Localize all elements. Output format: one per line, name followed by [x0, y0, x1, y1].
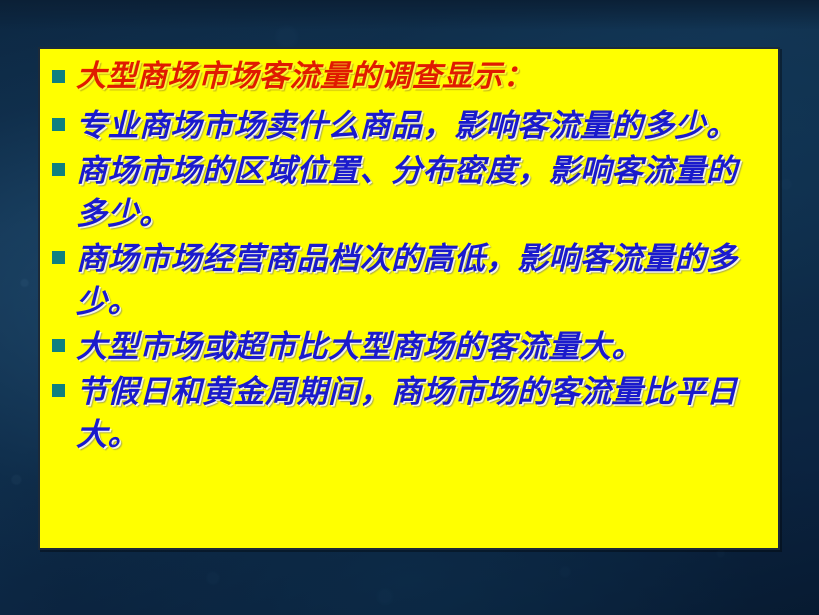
bullet-text: 节假日和黄金周期间，商场市场的客流量比平日大。: [76, 371, 764, 457]
bullet-text: 大型市场或超市比大型商场的客流量大。: [76, 326, 764, 369]
list-item: 节假日和黄金周期间，商场市场的客流量比平日大。: [52, 371, 764, 457]
list-item: 商场市场的区域位置、分布密度，影响客流量的多少。: [52, 150, 764, 236]
content-panel: 大型商场市场客流量的调查显示： 专业商场市场卖什么商品，影响客流量的多少。 商场…: [38, 47, 780, 550]
presentation-slide: 大型商场市场客流量的调查显示： 专业商场市场卖什么商品，影响客流量的多少。 商场…: [0, 0, 819, 615]
bullet-list: 大型商场市场客流量的调查显示： 专业商场市场卖什么商品，影响客流量的多少。 商场…: [52, 57, 764, 457]
bullet-text: 大型商场市场客流量的调查显示：: [76, 57, 764, 97]
list-item: 大型商场市场客流量的调查显示：: [52, 57, 764, 97]
square-bullet-icon: [52, 384, 65, 397]
bullet-text: 商场市场的区域位置、分布密度，影响客流量的多少。: [76, 150, 764, 236]
bullet-text: 商场市场经营商品档次的高低，影响客流量的多少。: [76, 238, 764, 324]
square-bullet-icon: [52, 70, 65, 83]
square-bullet-icon: [52, 118, 65, 131]
bullet-text: 专业商场市场卖什么商品，影响客流量的多少。: [76, 105, 764, 148]
square-bullet-icon: [52, 251, 65, 264]
square-bullet-icon: [52, 339, 65, 352]
list-item: 大型市场或超市比大型商场的客流量大。: [52, 326, 764, 369]
list-item: 专业商场市场卖什么商品，影响客流量的多少。: [52, 105, 764, 148]
background-top-shade: [0, 0, 819, 30]
square-bullet-icon: [52, 163, 65, 176]
list-item: 商场市场经营商品档次的高低，影响客流量的多少。: [52, 238, 764, 324]
